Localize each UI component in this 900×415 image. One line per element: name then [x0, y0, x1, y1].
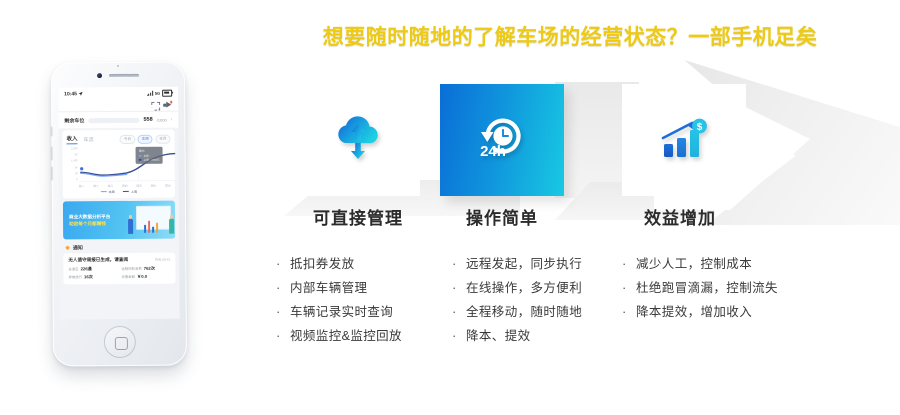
list-item-label: 减少人工，控制成本 — [636, 253, 752, 276]
list-item-label: 抵扣券发放 — [290, 253, 355, 276]
dollar-glyph: $ — [697, 122, 703, 133]
notice-stat: 异常放行 16次 — [68, 274, 117, 280]
promo-banner[interactable]: 商业大数据分析平台 助您每个月都赚钱 — [63, 201, 175, 240]
promo-line-2: 助您每个月都赚钱 — [69, 220, 110, 227]
feature-list-3: · 减少人工，控制成本 · 杜绝跑冒滴漏，控制流失 · 降本提效，增加收入 — [622, 252, 778, 324]
list-item-label: 远程发起，同步执行 — [466, 253, 582, 276]
notification-dot — [170, 101, 173, 104]
stat-value: 226通 — [81, 266, 92, 272]
notice-stats-grid: 总通店 226通 远程协助收费 762次 异常放行 16次 优惠金额 ￥0.0 — [68, 266, 170, 281]
status-time: 10:45 — [64, 91, 77, 97]
tooltip-swatch — [139, 159, 142, 161]
bullet-marker-icon: · — [452, 252, 466, 275]
tooltip-label: 上周：2160元 — [143, 158, 159, 162]
list-item: · 抵扣券发放 — [276, 252, 402, 276]
list-item-label: 车辆记录实时查询 — [290, 301, 393, 324]
bullet-marker-icon: · — [452, 276, 466, 299]
legend-label: 上周 — [131, 189, 137, 194]
status-bar: 10:45 5G — [58, 87, 178, 101]
list-item: · 在线操作，多方便利 — [452, 276, 582, 300]
chart-tabs: 收入 车流 今日 本周 本月 — [66, 134, 170, 145]
list-item: · 杜绝跑冒滴漏，控制流失 — [622, 276, 778, 300]
notice-header: ◆ 通知 — [59, 239, 179, 254]
illustration-bar — [144, 225, 146, 233]
chevron-right-icon[interactable]: › — [171, 117, 173, 123]
legend-label: 本周 — [108, 189, 114, 194]
parking-slots-value: 558 — [143, 117, 152, 123]
bullet-marker-icon: · — [622, 300, 636, 323]
feature-heading-1: 可直接管理 — [278, 204, 438, 229]
stat-label: 优惠金额 — [121, 274, 135, 279]
mute-switch[interactable] — [50, 126, 52, 136]
stat-label: 异常放行 — [68, 274, 82, 279]
volume-up-button[interactable] — [50, 146, 52, 160]
income-chart-card: 收入 车流 今日 本周 本月 2,500 2K 1,500 1K 50 — [62, 130, 174, 199]
y-tick: 2K — [67, 153, 78, 156]
location-arrow-icon — [78, 91, 83, 96]
bell-icon: ◆ — [65, 245, 70, 251]
stat-label: 总通店 — [68, 266, 78, 271]
list-item-label: 降本、提效 — [466, 325, 531, 348]
notice-stat: 优惠金额 ￥0.0 — [121, 274, 170, 280]
phone-top-hardware — [51, 73, 185, 79]
stat-value: ￥0.0 — [137, 274, 147, 280]
bullet-marker-icon: · — [622, 276, 636, 299]
feature-heading-3: 效益增加 — [600, 204, 760, 229]
bullet-marker-icon: · — [622, 252, 636, 275]
illustration-bar — [156, 223, 158, 233]
illustration-bar — [148, 221, 150, 233]
list-item: · 降本提效，增加收入 — [622, 300, 778, 324]
list-item: · 车辆记录实时查询 — [276, 300, 402, 324]
legend-entry: 上周 — [123, 189, 137, 194]
y-tick: 0 — [67, 178, 78, 181]
x-tick: 周二 — [93, 184, 99, 188]
x-tick: 周一 — [79, 184, 85, 188]
list-item: · 全程移动，随时随地 — [452, 300, 582, 324]
y-tick: 2,500 — [67, 147, 78, 150]
bullet-marker-icon: · — [276, 324, 290, 347]
list-item-label: 内部车辆管理 — [290, 277, 367, 300]
network-label: 5G — [155, 91, 160, 96]
list-item: · 降本、提效 — [452, 324, 582, 348]
y-tick: 1,500 — [67, 160, 78, 163]
page-title: 想要随时随地的了解车场的经营状态？一部手机足矣 — [270, 24, 870, 52]
clock-24h-icon: 24h — [472, 112, 532, 169]
volume-down-button[interactable] — [50, 166, 52, 180]
notice-stat: 总通店 226通 — [68, 266, 117, 272]
notice-stat: 远程协助收费 762次 — [121, 266, 170, 272]
y-tick: 1K — [67, 166, 78, 169]
feature-panel-3[interactable]: $ — [622, 84, 746, 196]
promo-banner-text: 商业大数据分析平台 助您每个月都赚钱 — [63, 213, 110, 227]
list-item-label: 视频监控&监控回放 — [290, 325, 402, 348]
feature-list-1: · 抵扣券发放 · 内部车辆管理 · 车辆记录实时查询 · 视频监控&监控回放 — [276, 252, 402, 348]
chip-week[interactable]: 本周 — [138, 134, 153, 143]
battery-icon — [162, 90, 172, 97]
feature-list-2: · 远程发起，同步执行 · 在线操作，多方便利 · 全程移动，随时随地 · 降本… — [452, 252, 582, 348]
x-tick: 周六 — [151, 184, 157, 188]
list-item-label: 全程移动，随时随地 — [466, 301, 582, 324]
parking-slots-total: /1000 — [157, 117, 167, 122]
x-tick: 周日 — [165, 184, 171, 188]
illustration-bar — [152, 227, 154, 233]
notice-card-title: 无人值守周报已生成，请查阅 — [68, 257, 128, 263]
growth-chart-dollar-icon: $ — [656, 114, 712, 167]
range-chips: 今日 本周 本月 — [120, 134, 171, 143]
feature-panel-2[interactable]: 24h — [440, 84, 564, 196]
list-item: · 减少人工，控制成本 — [622, 252, 778, 276]
legend-swatch — [123, 191, 129, 193]
legend-entry: 本周 — [100, 189, 114, 194]
bullet-marker-icon: · — [452, 324, 466, 347]
slide-canvas: 想要随时随地的了解车场的经营状态？一部手机足矣 — [0, 0, 900, 415]
list-item: · 视频监控&监控回放 — [276, 324, 402, 348]
tab-income[interactable]: 收入 — [66, 134, 77, 144]
x-tick: 周五 — [136, 184, 142, 188]
tab-traffic[interactable]: 车流 — [83, 136, 93, 143]
parking-progress-bar — [88, 117, 139, 122]
earpiece-speaker — [109, 74, 139, 78]
chart-tooltip: 周六 本周： 上周：2160元 — [136, 147, 163, 164]
tooltip-swatch — [139, 155, 142, 157]
tooltip-row: 上周：2160元 — [139, 158, 160, 162]
parking-slots-row[interactable]: 剩余车位 558 /1000 › — [58, 111, 178, 129]
list-item-label: 在线操作，多方便利 — [466, 277, 582, 300]
notice-card-header: 无人值守周报已生成，请查阅 昨天 08:41 — [68, 257, 170, 264]
bullet-marker-icon: · — [276, 276, 290, 299]
bullet-marker-icon: · — [452, 300, 466, 323]
stat-value: 16次 — [84, 274, 93, 280]
line-chart: 2,500 2K 1,500 1K 50 0 — [67, 146, 171, 189]
stat-label: 远程协助收费 — [121, 266, 141, 271]
chip-today[interactable]: 今日 — [120, 134, 135, 143]
scan-icon[interactable] — [151, 102, 158, 109]
parking-slots-label: 剩余车位 — [64, 117, 84, 124]
illustration-person — [128, 219, 133, 234]
phone-screen: 10:45 5G 剩余车位 — [58, 87, 180, 320]
illustration-person — [169, 219, 174, 234]
list-item: · 远程发起，同步执行 — [452, 252, 582, 276]
feature-panel-1[interactable] — [296, 84, 420, 196]
app-nav-icons — [58, 100, 178, 112]
y-axis-ticks: 2,500 2K 1,500 1K 50 0 — [67, 147, 78, 181]
front-camera-icon — [97, 73, 102, 78]
x-tick: 周四 — [122, 184, 128, 188]
home-button[interactable] — [104, 326, 136, 358]
dashboard-illustration — [128, 205, 172, 235]
cloud-sync-icon — [331, 115, 385, 166]
legend-swatch — [100, 191, 106, 193]
megaphone-icon[interactable] — [163, 102, 171, 109]
x-axis-ticks: 周一 周二 周三 周四 周五 周六 周日 — [79, 184, 171, 189]
chip-month[interactable]: 本月 — [155, 134, 170, 143]
chart-legend: 本周 上周 — [67, 189, 171, 195]
clock-24h-label: 24h — [480, 143, 506, 160]
bullet-marker-icon: · — [276, 300, 290, 323]
x-tick: 周三 — [108, 184, 114, 188]
notice-card[interactable]: 无人值守周报已生成，请查阅 昨天 08:41 总通店 226通 远程协助收费 7… — [63, 253, 175, 285]
front-sensor-icon — [117, 65, 119, 67]
stat-value: 762次 — [144, 266, 155, 272]
list-item: · 内部车辆管理 — [276, 276, 402, 300]
list-item-label: 降本提效，增加收入 — [636, 301, 752, 324]
phone-mockup: 10:45 5G 剩余车位 — [51, 62, 187, 367]
list-item-label: 杜绝跑冒滴漏，控制流失 — [636, 277, 778, 300]
notice-title: 通知 — [73, 244, 83, 251]
tooltip-title: 周六 — [139, 149, 160, 153]
signal-bars-icon — [147, 91, 153, 96]
notice-card-time: 昨天 08:41 — [155, 257, 170, 262]
feature-heading-2: 操作简单 — [422, 204, 582, 229]
bullet-marker-icon: · — [276, 252, 290, 275]
y-tick: 50 — [67, 172, 78, 175]
